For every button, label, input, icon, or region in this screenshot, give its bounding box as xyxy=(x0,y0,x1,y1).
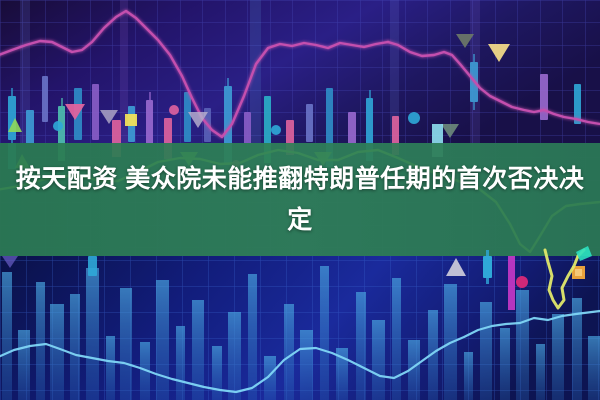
headline-band: 按天配资 美众院未能推翻特朗普任期的首次否决决定 xyxy=(0,143,600,256)
top-chart-panel xyxy=(0,0,600,150)
headline-title: 按天配资 美众院未能推翻特朗普任期的首次否决决定 xyxy=(8,159,592,241)
bottom-chart-panel xyxy=(0,246,600,400)
news-banner-image: 按天配资 美众院未能推翻特朗普任期的首次否决决定 xyxy=(0,0,600,400)
